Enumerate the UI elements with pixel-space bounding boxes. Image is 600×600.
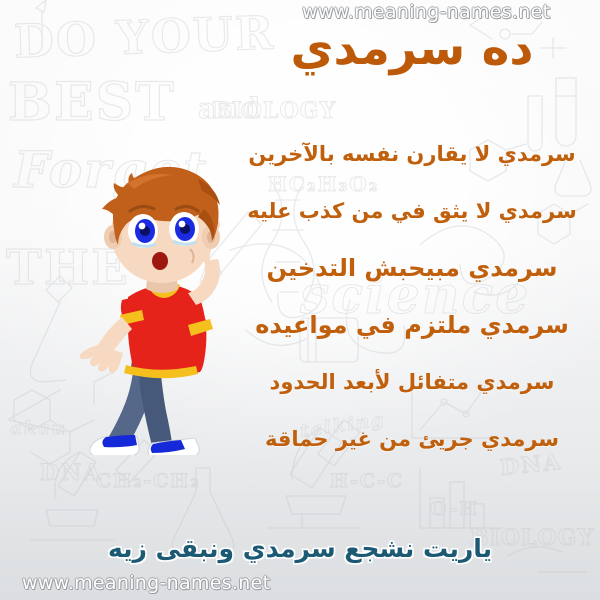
cartoon-boy-illustration: [56, 165, 266, 455]
boy-shoes: [90, 435, 199, 455]
trait-line: سرمدي جريئ من غير حماقة: [236, 411, 588, 468]
name-meaning-card: DO YOUR BEST and Forget THE science BIOL…: [0, 0, 600, 600]
trait-list: سرمدي لا يقارن نفسه بالآخرين سرمدي لا يث…: [236, 126, 588, 468]
footer-message: ياريت نشجع سرمدي ونبقى زيه: [0, 534, 600, 563]
trait-line: سرمدي مبيحبش التدخين: [236, 240, 588, 297]
doodle-text-chem-3: H-C-C: [330, 470, 404, 492]
doodle-text-oh: O-H: [430, 498, 479, 520]
page-title: ده سرمدي: [242, 24, 582, 75]
watermark-bottom: www.meaning-names.net: [22, 572, 270, 594]
boy-mouth: [152, 252, 168, 270]
doodle-text-and: and: [198, 92, 262, 125]
trait-line: سرمدي متفائل لأبعد الحدود: [236, 354, 588, 411]
trait-line: سرمدي لا يثق في من كذب عليه: [236, 183, 588, 240]
doodle-text-chem-2: CH₂-CH₂: [96, 470, 201, 492]
trait-line: سرمدي لا يقارن نفسه بالآخرين: [236, 126, 588, 183]
doodle-text-do-your: DO YOUR: [13, 5, 276, 68]
watermark-top: www.meaning-names.net: [302, 1, 550, 23]
doodle-text-dna-1: DNA: [40, 460, 102, 486]
doodle-text-biology-1: BIOLOGY: [212, 98, 336, 124]
doodle-text-best: BEST: [8, 72, 176, 133]
boy-left-arm: [80, 317, 133, 373]
trait-line: سرمدي ملتزم في مواعيده: [236, 297, 588, 354]
